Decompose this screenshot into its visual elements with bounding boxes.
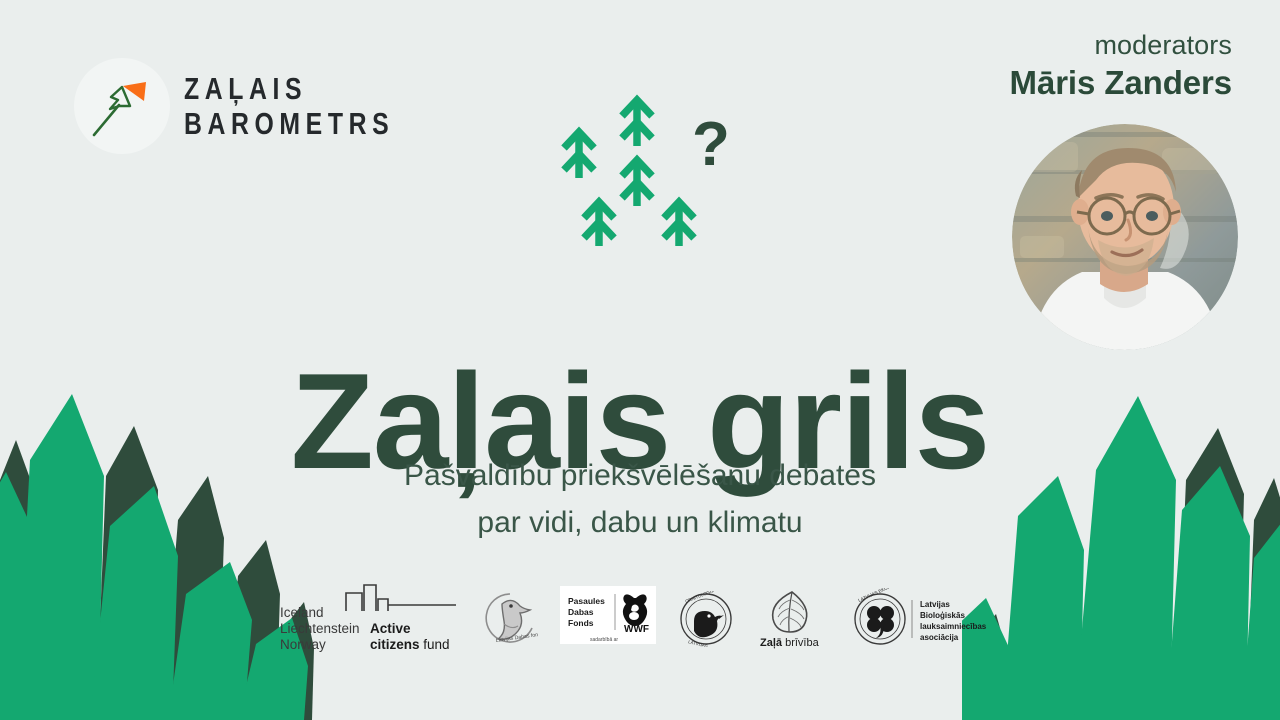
subtitle-line-2: par vidi, dabu un klimatu [0, 499, 1280, 546]
moderator-block: moderators Māris Zanders [922, 30, 1232, 103]
moderator-name: Māris Zanders [922, 63, 1232, 103]
subtitle-line-1: Pašvaldību priekšvēlēšanu debates [0, 452, 1280, 499]
ring-text: LATVIJAS EKOPRODUKTS [857, 588, 911, 603]
fund-wordmark: Active citizens fund [370, 621, 450, 652]
lbla-name-lines: Latvijas Bioloģiskās lauksaimniecības as… [920, 600, 987, 642]
eea-grants-bars-icon [346, 585, 456, 611]
wwf-label: WWF [624, 624, 649, 635]
wwf-footnote: sadarbībā ar [590, 637, 618, 643]
svg-text:Bioloģiskās: Bioloģiskās [920, 611, 965, 620]
fir-tree-icon [622, 100, 652, 146]
brand-lockup: ZAĻAIS BAROMETRS [74, 58, 447, 154]
sponsor-active-citizens-fund: Iceland Liechtenstein Norway Active citi… [278, 583, 460, 655]
svg-text:lauksaimniecības: lauksaimniecības [920, 622, 987, 631]
svg-text:Liechtenstein: Liechtenstein [280, 621, 360, 636]
forest-illustration: ? [548, 72, 738, 262]
fir-tree-icon [584, 202, 614, 246]
svg-text:Iceland: Iceland [280, 605, 324, 620]
moderator-portrait-avatar [1012, 124, 1238, 350]
poster-canvas: ZAĻAIS BAROMETRS [0, 0, 1280, 720]
ring-text-bottom: LATVIJAS [688, 639, 709, 647]
svg-text:Dabas: Dabas [568, 607, 594, 617]
sponsor-pasaules-dabas-fonds-wwf: Pasaules Dabas Fonds WWF sadarbībā ar [560, 586, 656, 652]
sponsor-lbla: LATVIJAS EKOPRODUKTS Latvijas Bioloģiskā… [850, 588, 1002, 650]
question-mark-glyph: ? [692, 110, 730, 179]
svg-text:citizens fund: citizens fund [370, 637, 450, 652]
fir-tree-icon-group [564, 100, 694, 246]
sponsor-latvijas-dabas-fonds: Latvijas Dabas fonds [482, 590, 538, 648]
svg-text:Pasaules: Pasaules [568, 596, 605, 606]
wwf-panda-icon [623, 594, 647, 626]
sponsor-logo-strip: Iceland Liechtenstein Norway Active citi… [0, 578, 1280, 660]
fir-tree-icon [564, 132, 594, 178]
zala-briviba-wordmark: Zaļā brīvība [760, 637, 820, 649]
ring-text-top: ORNITOLOĢIJAS BIEDRĪBA [685, 591, 734, 604]
page-subtitle: Pašvaldību priekšvēlēšanu debates par vi… [0, 452, 1280, 547]
brand-wordmark-line2: BAROMETRS [184, 107, 394, 142]
country-lines: Iceland Liechtenstein Norway [280, 605, 360, 652]
svg-text:Active: Active [370, 621, 411, 636]
leaf-icon [773, 592, 807, 632]
fir-tree-icon [622, 160, 652, 206]
svg-text:Fonds: Fonds [568, 618, 594, 628]
svg-text:Latvijas: Latvijas [920, 600, 950, 609]
svg-text:Norway: Norway [280, 637, 326, 652]
sponsor-zala-briviba: Zaļā brīvība [756, 588, 828, 650]
barometer-tree-icon [74, 58, 170, 154]
moderator-role-label: moderators [922, 30, 1232, 61]
sponsor-latvijas-ornitologijas-biedriba: ORNITOLOĢIJAS BIEDRĪBA LATVIJAS [678, 591, 734, 647]
brand-wordmark-line1: ZAĻAIS [184, 72, 394, 107]
svg-text:asociācija: asociācija [920, 633, 959, 642]
fir-tree-icon [664, 202, 694, 246]
brand-wordmark: ZAĻAIS BAROMETRS [184, 72, 447, 141]
